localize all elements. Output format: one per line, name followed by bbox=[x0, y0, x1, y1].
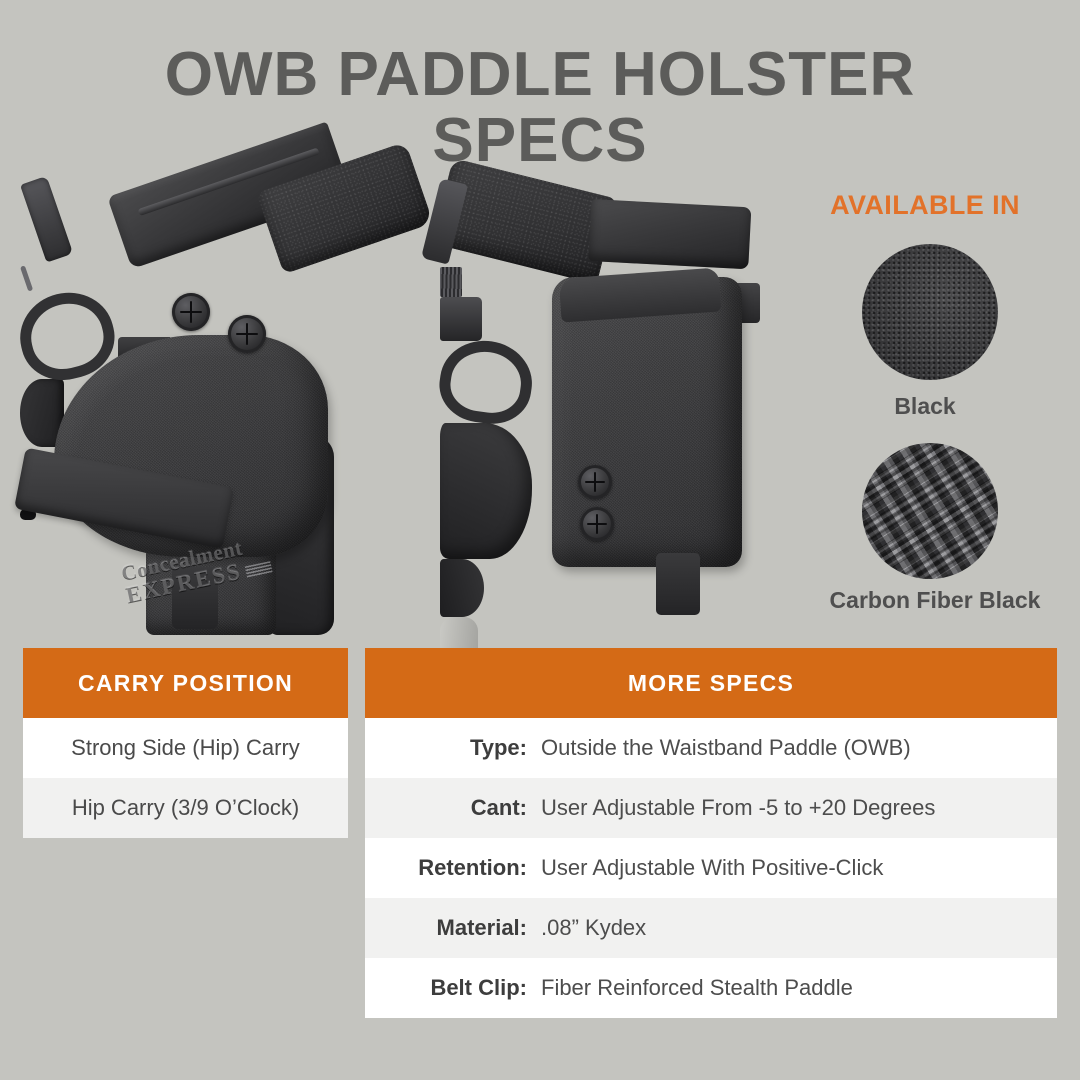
color-label-black: Black bbox=[790, 393, 1060, 420]
page-title: OWB PADDLE HOLSTER SPECS bbox=[0, 42, 1080, 174]
spec-label: Retention: bbox=[365, 855, 535, 881]
pistol-backstrap bbox=[20, 176, 73, 263]
pistol-slide bbox=[588, 199, 751, 269]
table-row: Type: Outside the Waistband Paddle (OWB) bbox=[365, 718, 1057, 778]
spec-label: Cant: bbox=[365, 795, 535, 821]
carry-position-header: CARRY POSITION bbox=[23, 648, 348, 718]
more-specs-table: MORE SPECS Type: Outside the Waistband P… bbox=[365, 648, 1057, 1018]
spec-value: User Adjustable With Positive-Click bbox=[535, 855, 1057, 881]
retention-screw bbox=[578, 465, 612, 499]
table-row: Material: .08” Kydex bbox=[365, 898, 1057, 958]
color-swatch-carbon-fiber-black[interactable] bbox=[862, 443, 998, 579]
more-specs-header: MORE SPECS bbox=[365, 648, 1057, 718]
retention-screw bbox=[228, 315, 266, 353]
spec-value: .08” Kydex bbox=[535, 915, 1057, 941]
holster-muzzle-tail bbox=[172, 567, 218, 629]
carry-position-table: CARRY POSITION Strong Side (Hip) Carry H… bbox=[23, 648, 348, 838]
spec-value: User Adjustable From -5 to +20 Degrees bbox=[535, 795, 1057, 821]
paddle-hook bbox=[440, 559, 484, 617]
table-row: Retention: User Adjustable With Positive… bbox=[365, 838, 1057, 898]
holster-front-view-image bbox=[440, 185, 820, 625]
spec-label: Belt Clip: bbox=[365, 975, 535, 1001]
table-row: Strong Side (Hip) Carry bbox=[23, 718, 348, 778]
color-swatch-black[interactable] bbox=[862, 244, 998, 380]
table-row: Hip Carry (3/9 O’Clock) bbox=[23, 778, 348, 838]
holster-back-view-image: Concealment EXPRESS bbox=[20, 185, 440, 625]
pistol-muzzle-end bbox=[440, 297, 482, 341]
spec-label: Type: bbox=[365, 735, 535, 761]
pistol-grip-slot bbox=[20, 265, 33, 291]
retention-screw bbox=[580, 507, 614, 541]
holster-muzzle-tail bbox=[656, 553, 700, 615]
stealth-paddle bbox=[440, 423, 532, 559]
table-row: Cant: User Adjustable From -5 to +20 Deg… bbox=[365, 778, 1057, 838]
spec-value: Outside the Waistband Paddle (OWB) bbox=[535, 735, 1057, 761]
product-image-area: Concealment EXPRESS bbox=[0, 185, 820, 625]
available-in-heading: AVAILABLE IN bbox=[790, 190, 1060, 221]
pistol-trigger-guard bbox=[435, 335, 538, 429]
spec-label: Material: bbox=[365, 915, 535, 941]
retention-screw bbox=[172, 293, 210, 331]
table-row: Belt Clip: Fiber Reinforced Stealth Padd… bbox=[365, 958, 1057, 1018]
available-in-panel: AVAILABLE IN Black Carbon Fiber Black bbox=[790, 190, 1080, 620]
color-label-carbon-fiber-black: Carbon Fiber Black bbox=[790, 587, 1080, 614]
spec-value: Fiber Reinforced Stealth Paddle bbox=[535, 975, 1057, 1001]
pistol-slide-serrations bbox=[440, 267, 462, 297]
